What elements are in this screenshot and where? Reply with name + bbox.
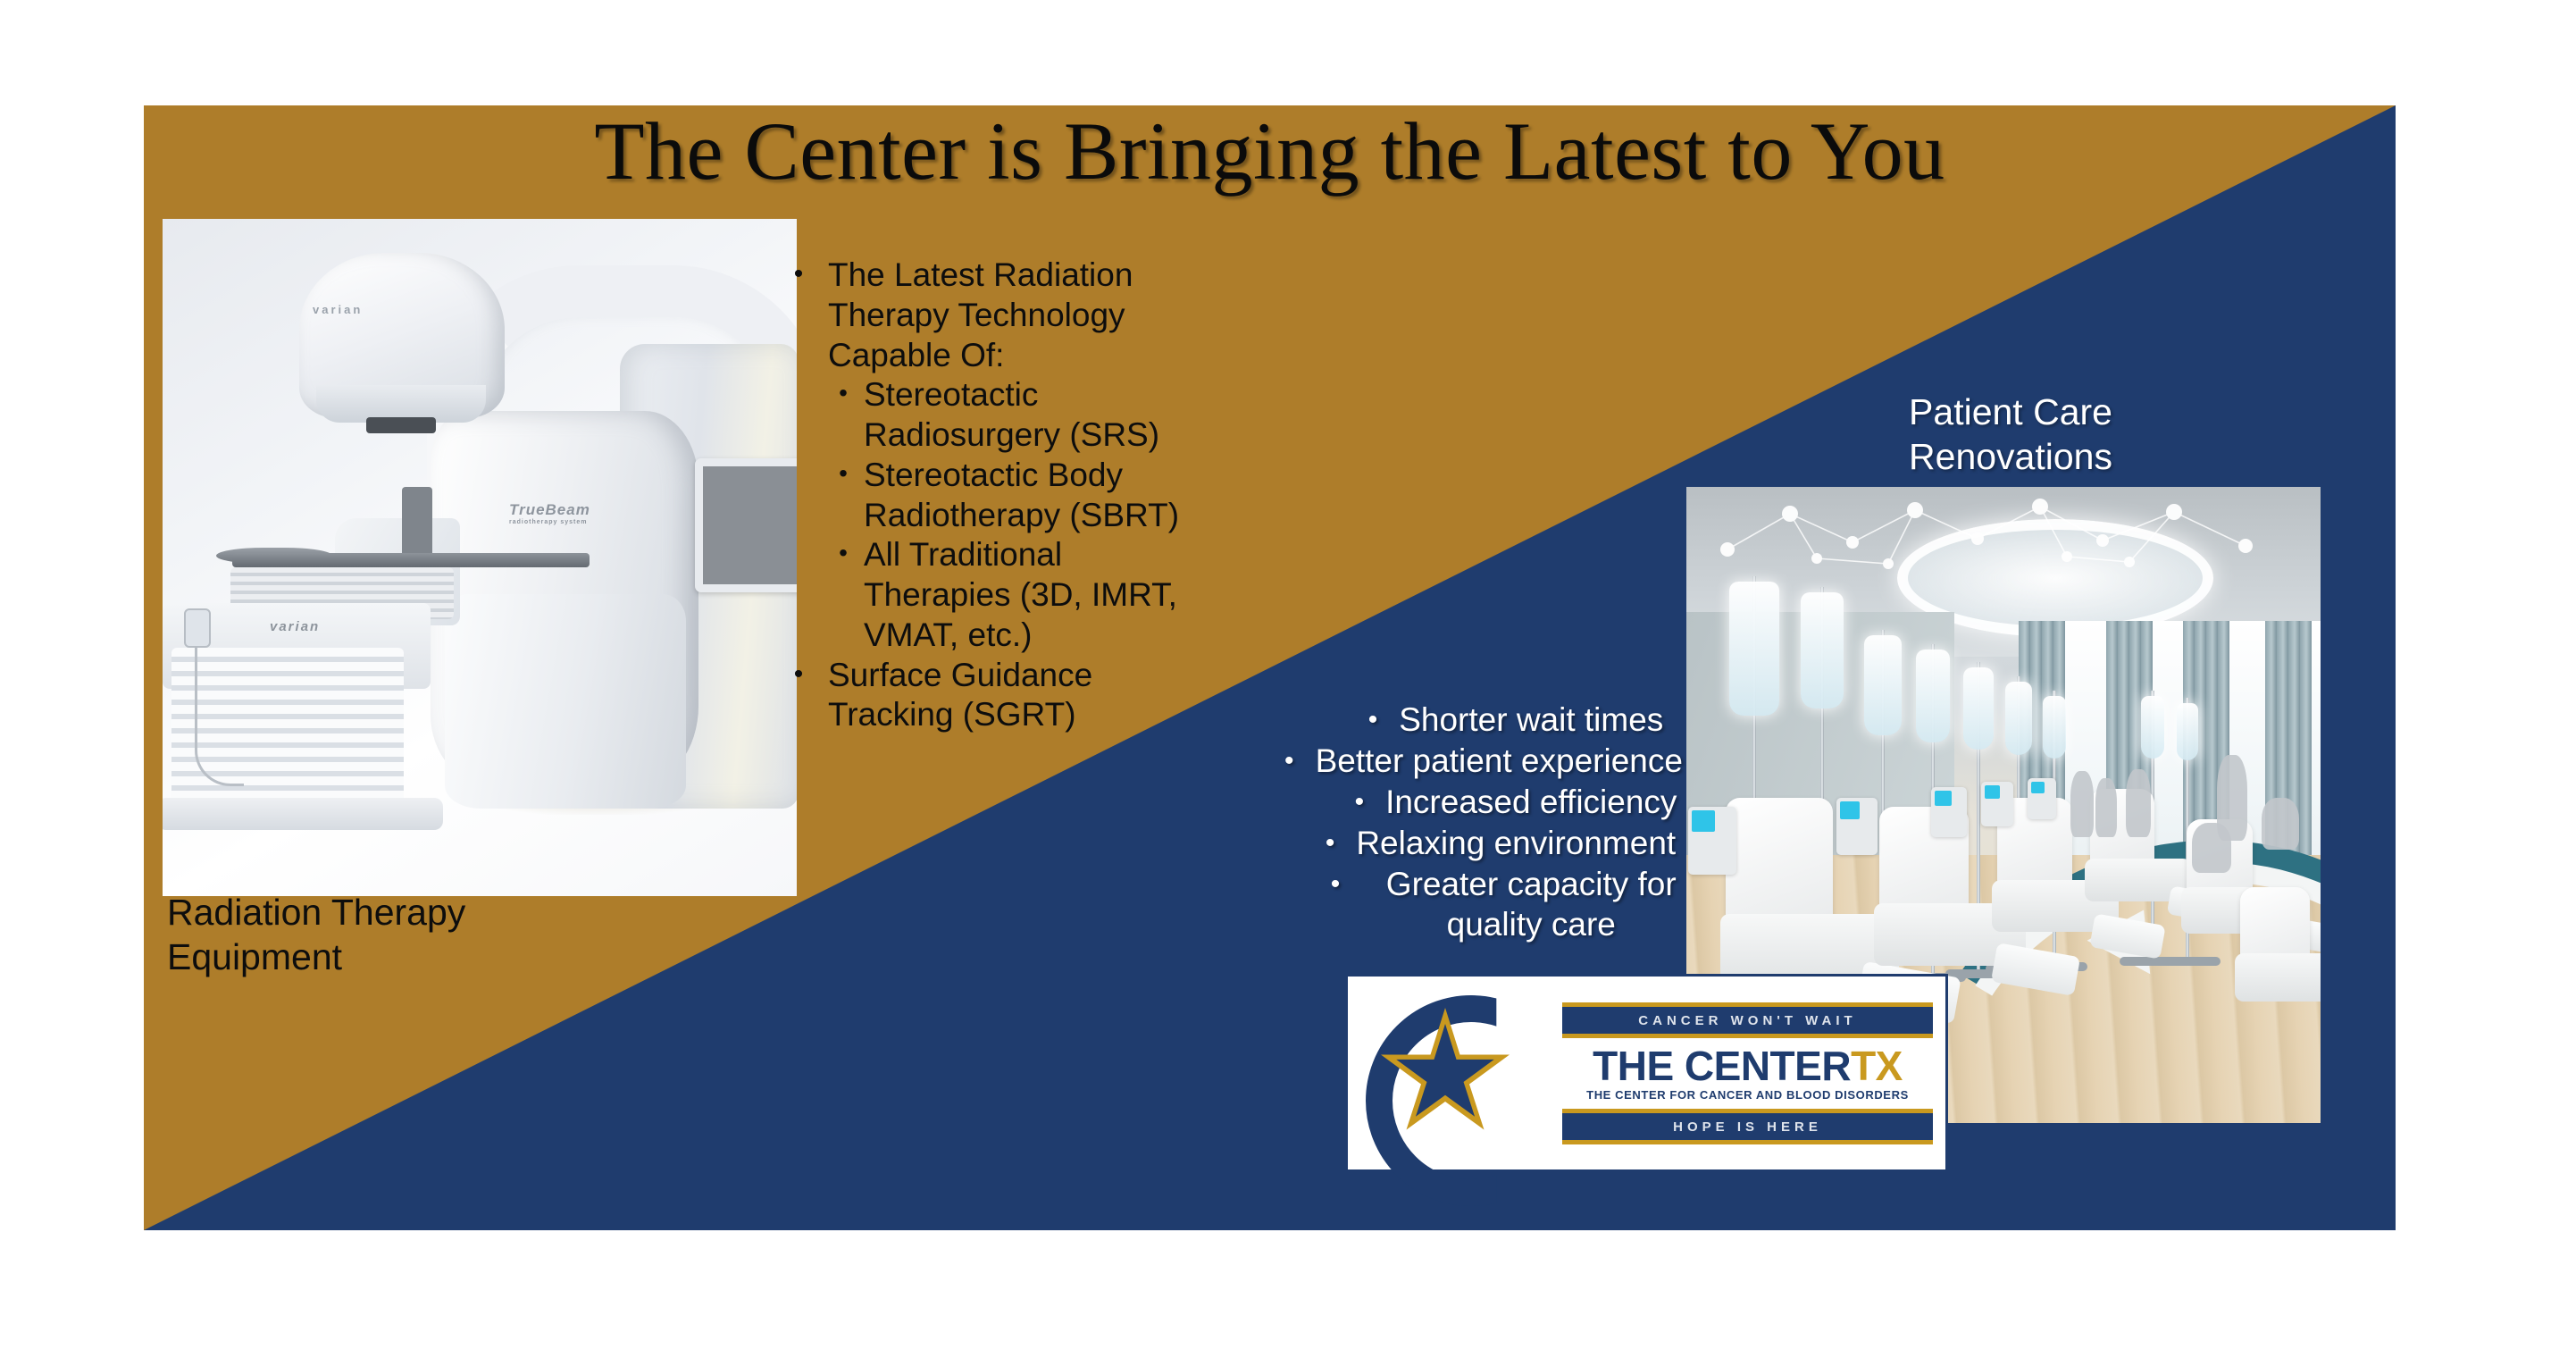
bullet-text: Stereotactic Radiosurgery (SRS) [864, 375, 1216, 456]
bullet-text: Surface Guidance Tracking (SGRT) [828, 656, 1216, 736]
couch-floor-plate [163, 798, 443, 830]
bullet-item: • Relaxing environment [1207, 823, 1761, 864]
molecule-ceiling-decoration [1710, 487, 2299, 585]
radiation-therapy-equipment-image: varian TrueBeam radiotherapy system vari… [163, 219, 797, 896]
bullet-dot-icon: • [823, 456, 864, 536]
person-silhouette [2070, 771, 2094, 837]
bullet-item: • Greater capacity for quality care [1207, 864, 1761, 946]
bullet-item: • The Latest Radiation Therapy Technolog… [769, 256, 1216, 375]
slide-title: The Center is Bringing the Latest to You [144, 105, 2396, 203]
person-silhouette [2192, 823, 2231, 873]
logo-bottom-band: HOPE IS HERE [1562, 1109, 1933, 1144]
infusion-pump [1931, 787, 1967, 837]
bullet-text: Better patient experience [1316, 741, 1683, 782]
logo-tagline: THE CENTER FOR CANCER AND BLOOD DISORDER… [1562, 1088, 1933, 1109]
infusion-pump [2028, 778, 2056, 819]
treatment-couch-top [232, 553, 590, 567]
logo-wordmark-main: THE CENTER [1593, 1043, 1851, 1089]
patient-care-renovations-caption: Patient Care Renovations [1814, 390, 2207, 479]
logo-wordmark: THE CENTERTX [1562, 1038, 1933, 1088]
bullet-dot-icon: • [1326, 823, 1357, 864]
bullet-item: • Surface Guidance Tracking (SGRT) [769, 656, 1216, 736]
varian-couch-logo-text: varian [270, 619, 320, 634]
logo-top-band: CANCER WON'T WAIT [1562, 1002, 1933, 1038]
radiation-therapy-equipment-caption: Radiation Therapy Equipment [167, 890, 631, 979]
infusion-pump [1981, 782, 2013, 826]
bullet-text: Increased efficiency [1385, 782, 1677, 823]
truebeam-subtext: radiotherapy system [509, 519, 590, 525]
bullet-item: • All Traditional Therapies (3D, IMRT, V… [823, 535, 1216, 655]
varian-head-logo-text: varian [313, 303, 363, 316]
treatment-recliner [2240, 887, 2321, 1030]
bullet-item: • Stereotactic Radiosurgery (SRS) [823, 375, 1216, 456]
bullet-text: Shorter wait times [1399, 700, 1663, 741]
bullet-dot-icon: • [1368, 700, 1400, 741]
bullet-sublist: • Stereotactic Radiosurgery (SRS) • Ster… [823, 375, 1216, 655]
patient-care-bullet-list: • Shorter wait times • Better patient ex… [1207, 700, 1761, 945]
bullet-item: • Better patient experience [1207, 741, 1761, 782]
bullet-text: All Traditional Therapies (3D, IMRT, VMA… [864, 535, 1216, 655]
bullet-text: The Latest Radiation Therapy Technology … [828, 256, 1216, 375]
radiation-therapy-bullet-list: • The Latest Radiation Therapy Technolog… [769, 256, 1216, 735]
bullet-dot-icon: • [823, 535, 864, 655]
beam-aperture [366, 417, 436, 433]
truebeam-logo-text: TrueBeam radiotherapy system [509, 501, 590, 525]
bullet-dot-icon: • [1355, 782, 1386, 823]
the-center-tx-logo: CANCER WON'T WAIT THE CENTERTX THE CENTE… [1345, 974, 1948, 1172]
logo-text-block: CANCER WON'T WAIT THE CENTERTX THE CENTE… [1559, 993, 1945, 1153]
bullet-dot-icon: • [1331, 864, 1362, 946]
bullet-item: • Increased efficiency [1207, 782, 1761, 823]
logo-wordmark-accent: TX [1851, 1043, 1903, 1089]
bullet-item: • Stereotactic Body Radiotherapy (SBRT) [823, 456, 1216, 536]
gantry-stand [445, 594, 686, 809]
logo-c-star-mark [1353, 988, 1559, 1158]
bullet-dot-icon: • [823, 375, 864, 456]
person-silhouette [2126, 769, 2151, 837]
truebeam-wordmark: TrueBeam [509, 501, 590, 518]
infusion-pump [1836, 798, 1878, 855]
bullet-item: • Shorter wait times [1207, 700, 1761, 741]
hand-control-pendant [184, 608, 211, 648]
bullet-text: Stereotactic Body Radiotherapy (SBRT) [864, 456, 1216, 536]
person-silhouette [2262, 798, 2299, 850]
bullet-text: Greater capacity for quality care [1361, 864, 1701, 946]
bullet-text: Relaxing environment [1356, 823, 1676, 864]
presentation-slide: The Center is Bringing the Latest to You… [144, 105, 2396, 1230]
person-silhouette [2095, 778, 2117, 837]
bullet-dot-icon: • [769, 656, 828, 736]
bullet-dot-icon: • [1284, 741, 1316, 782]
bullet-dot-icon: • [769, 256, 828, 375]
